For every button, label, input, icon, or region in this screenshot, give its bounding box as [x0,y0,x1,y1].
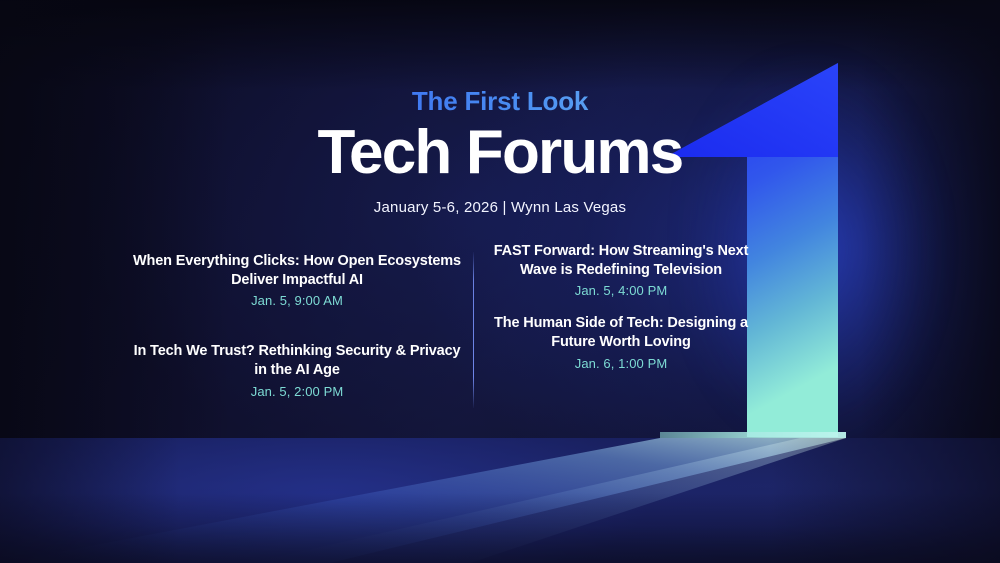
session-item[interactable]: The Human Side of Tech: Designing a Futu… [482,314,760,370]
session-item[interactable]: FAST Forward: How Streaming's Next Wave … [482,242,760,298]
session-title: FAST Forward: How Streaming's Next Wave … [482,242,760,280]
event-promo-canvas: The First Look Tech Forums January 5-6, … [0,0,1000,563]
session-title: In Tech We Trust? Rethinking Security & … [130,342,464,380]
column-divider [473,252,474,408]
session-list: When Everything Clicks: How Open Ecosyst… [130,246,760,416]
session-time: Jan. 5, 4:00 PM [482,283,760,298]
session-column-right: FAST Forward: How Streaming's Next Wave … [482,242,760,397]
eyebrow-label: The First Look [0,86,1000,117]
content-layer: The First Look Tech Forums January 5-6, … [0,0,1000,563]
session-time: Jan. 5, 2:00 PM [130,384,464,399]
session-item[interactable]: When Everything Clicks: How Open Ecosyst… [130,252,464,308]
page-title: Tech Forums [0,120,1000,185]
session-column-left: When Everything Clicks: How Open Ecosyst… [130,252,464,425]
event-date-venue: January 5-6, 2026 | Wynn Las Vegas [0,199,1000,216]
session-title: When Everything Clicks: How Open Ecosyst… [130,252,464,290]
session-title: The Human Side of Tech: Designing a Futu… [482,314,760,352]
session-item[interactable]: In Tech We Trust? Rethinking Security & … [130,342,464,398]
session-time: Jan. 6, 1:00 PM [482,356,760,371]
session-time: Jan. 5, 9:00 AM [130,293,464,308]
